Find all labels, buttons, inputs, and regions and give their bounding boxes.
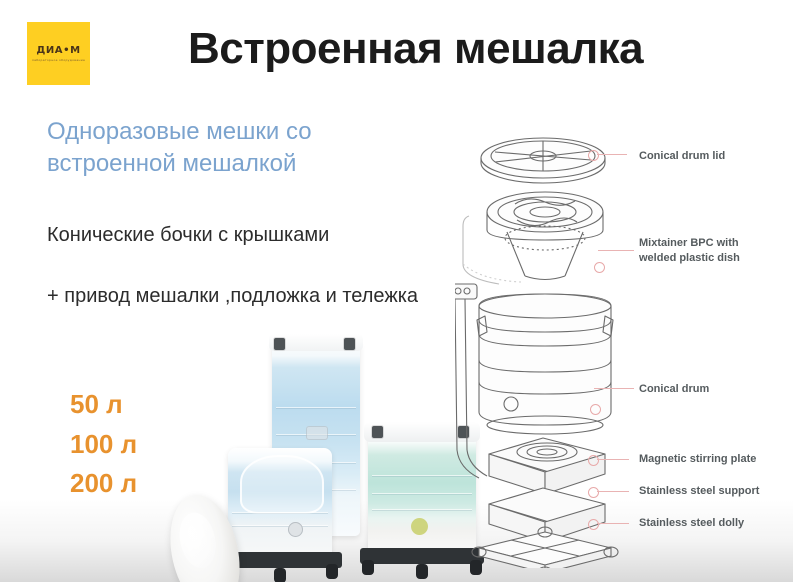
volume-list: 50 л 100 л 200 л — [70, 385, 137, 504]
drum-handle — [274, 338, 285, 350]
logo-wordmark: ДИА•М — [36, 46, 80, 56]
drum-handle — [372, 426, 383, 438]
callout-marker — [588, 519, 599, 530]
dolly-caster — [326, 564, 338, 579]
drum-label — [288, 522, 303, 537]
drum-badge — [411, 518, 428, 535]
callout-leader-line — [597, 491, 629, 492]
callout-leader-line — [597, 523, 629, 524]
callout-stainless-steel-support: Stainless steel support — [639, 484, 759, 499]
callout-marker — [588, 150, 599, 161]
diagram-part-mixtainer — [463, 192, 603, 284]
callout-conical-drum: Conical drum — [639, 382, 709, 397]
callout-stainless-steel-dolly: Stainless steel dolly — [639, 516, 744, 531]
volume-item-200: 200 л — [70, 464, 137, 504]
callout-conical-drum-lid: Conical drum lid — [639, 149, 725, 164]
company-logo: ДИА•М лабораторное оборудование — [27, 22, 90, 85]
callout-marker — [588, 487, 599, 498]
callout-leader-line — [598, 250, 634, 251]
callout-marker — [588, 455, 599, 466]
callout-marker — [594, 262, 605, 273]
callout-mixtainer-bpc: Mixtainer BPC with welded plastic dish — [639, 236, 740, 265]
dolly-caster — [416, 564, 428, 579]
exploded-assembly-diagram — [455, 120, 635, 568]
callout-marker — [590, 404, 601, 415]
callout-magnetic-stirring-plate: Magnetic stirring plate — [639, 452, 756, 467]
volume-item-100: 100 л — [70, 425, 137, 465]
dolly-caster — [274, 568, 286, 582]
callout-leader-line — [594, 388, 634, 389]
slide-canvas: ДИА•М лабораторное оборудование Встроенн… — [0, 0, 793, 582]
diagram-part-lid — [481, 138, 605, 183]
body-text-line-2: + привод мешалки ,подложка и тележка — [47, 282, 447, 311]
callout-leader-line — [597, 154, 627, 155]
drum-label — [306, 426, 328, 440]
body-text-line-1: Конические бочки с крышками — [47, 222, 447, 249]
product-photo — [172, 330, 482, 582]
volume-item-50: 50 л — [70, 385, 137, 425]
dolly-caster — [362, 560, 374, 575]
drum-handle — [344, 338, 355, 350]
page-title: Встроенная мешалка — [188, 26, 643, 72]
subtitle-text: Одноразовые мешки со встроенной мешалкой — [47, 116, 407, 179]
drum-50l-image — [228, 448, 332, 558]
callout-leader-line — [597, 459, 629, 460]
diagram-part-dolly — [472, 527, 618, 568]
logo-tagline: лабораторное оборудование — [32, 58, 85, 62]
diagram-part-stirring-plate — [489, 438, 605, 494]
bag-liner — [240, 455, 323, 514]
